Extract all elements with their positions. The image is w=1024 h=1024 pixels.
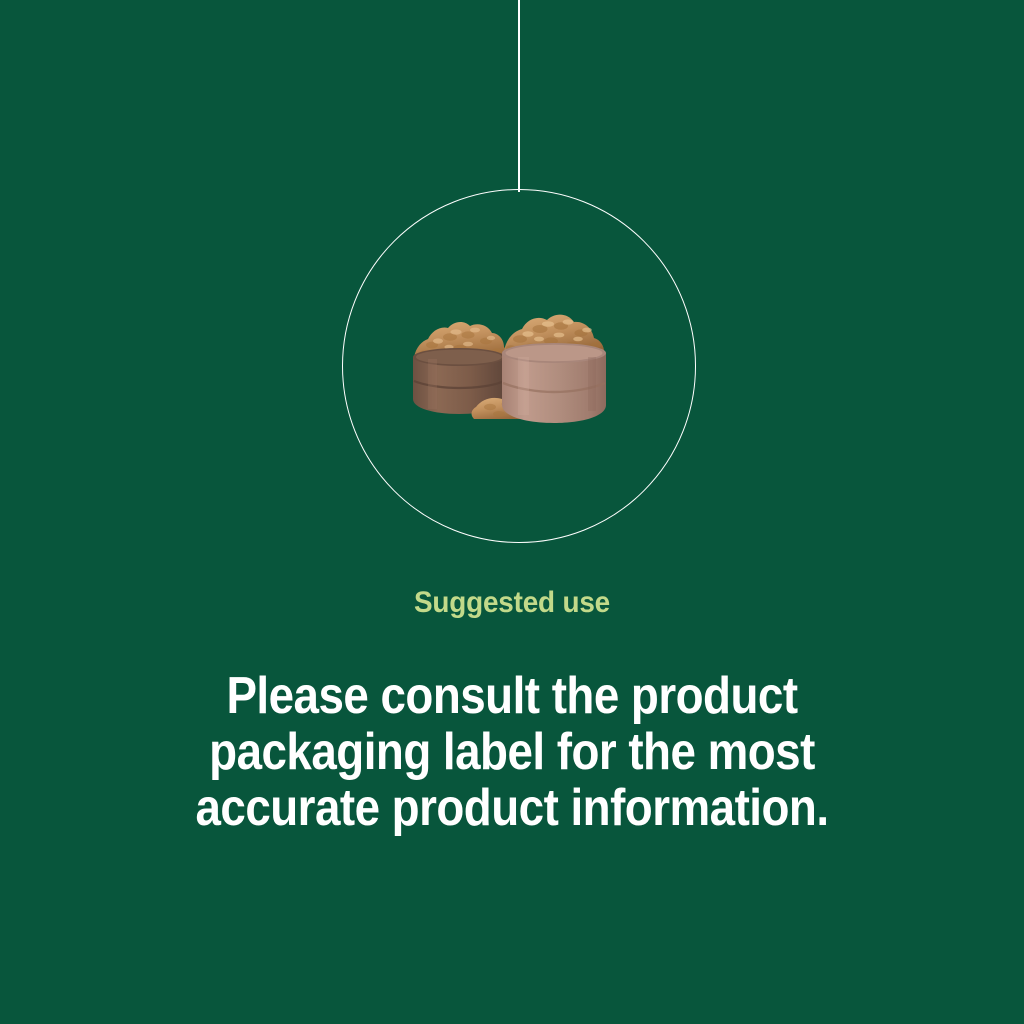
section-label-suggested-use: Suggested use [36, 586, 988, 620]
protein-powder-scoops-image [398, 295, 638, 435]
page-title: Please consult the product packaging lab… [110, 668, 914, 836]
headline-line-3: accurate product information. [158, 780, 866, 836]
headline-line-2: packaging label for the most [158, 724, 866, 780]
hanging-thread-line [518, 0, 520, 192]
headline-line-1: Please consult the product [158, 668, 866, 724]
product-info-card: Suggested use Please consult the product… [0, 0, 1024, 1024]
